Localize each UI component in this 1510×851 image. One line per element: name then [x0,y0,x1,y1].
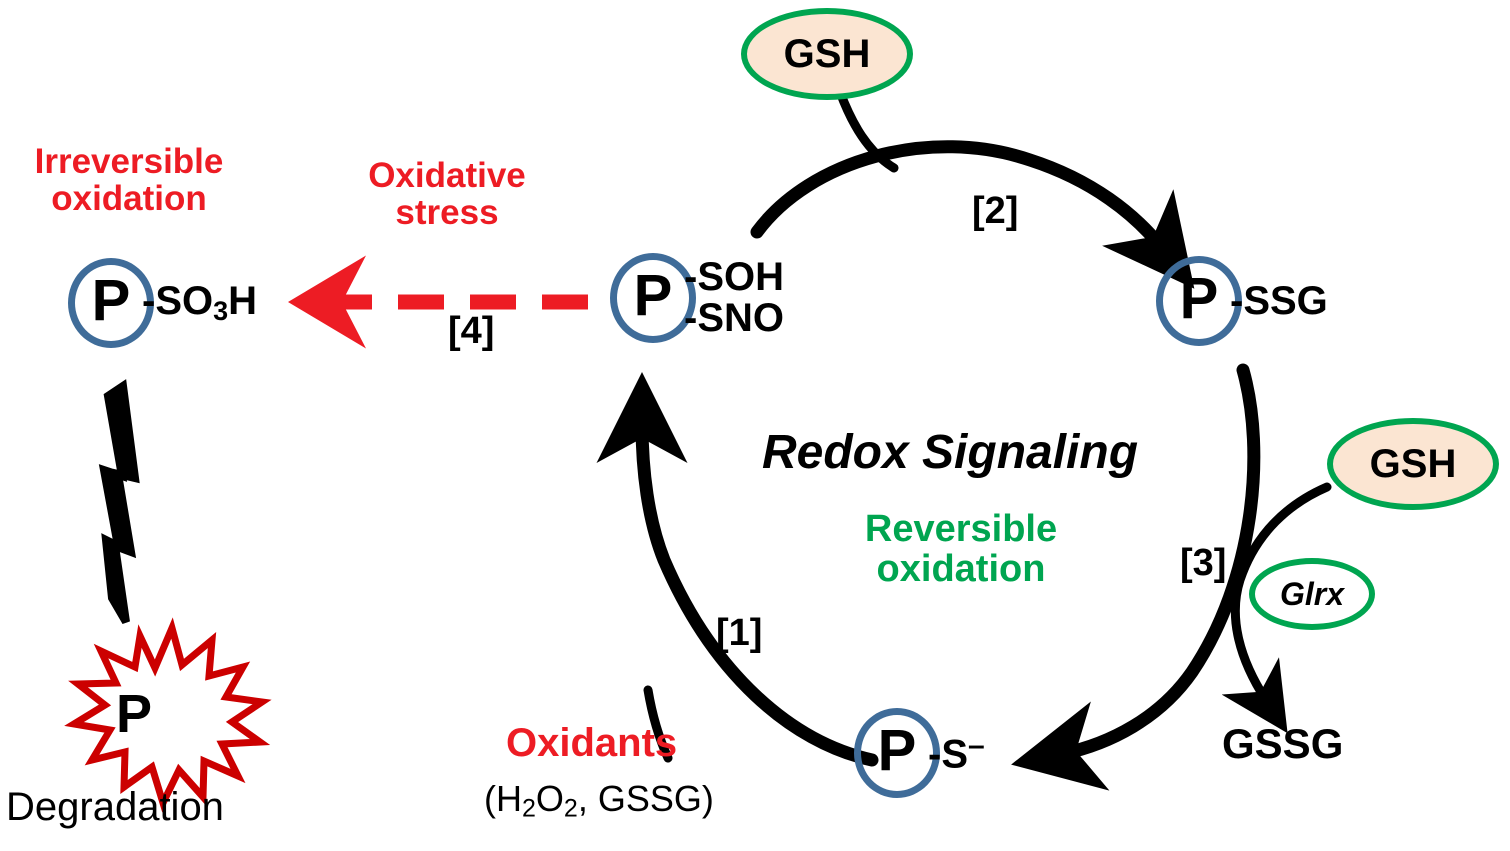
arrow-step-2 [757,147,1162,248]
node-p-ssg[interactable]: P -SSG [1156,256,1328,346]
center-title: Redox Signaling [762,428,1138,478]
gssg-label: GSSG [1222,722,1343,766]
degradation-starburst [74,628,262,803]
chem-label-so3h: -SO3H [142,281,257,325]
oxidants-label: Oxidants [506,722,677,764]
degradation-caption: Degradation [6,786,224,828]
oxidative-stress-label: Oxidative stress [332,158,562,232]
step-1-label: [1] [716,614,762,654]
node-p-s-minus[interactable]: P -S– [854,708,985,798]
node-gsh-right[interactable]: GSH [1327,418,1499,510]
node-glrx[interactable]: Glrx [1249,558,1375,630]
center-subtitle: Reversible oxidation [836,510,1086,590]
step-3-label: [3] [1180,544,1226,584]
chem-label-s-minus: -S– [928,731,985,775]
node-p-soh-sno[interactable]: P -SOH -SNO [610,253,784,343]
node-gsh-top[interactable]: GSH [741,8,913,100]
oxidants-detail-label: (H2O2, GSSG) [484,780,714,822]
redox-signaling-diagram: Irreversible oxidation P -SO3H P Degrada… [0,0,1510,851]
irreversible-oxidation-label: Irreversible oxidation [14,144,244,218]
node-p-so3h[interactable]: P -SO3H [68,258,257,348]
step-4-label: [4] [448,312,494,352]
step-2-label: [2] [972,192,1018,232]
degraded-protein-letter: P [116,686,152,743]
chem-label-ssg: -SSG [1230,281,1328,322]
chem-label-soh-sno: -SOH -SNO [684,257,784,339]
degradation-bolt-arrow [104,386,135,622]
